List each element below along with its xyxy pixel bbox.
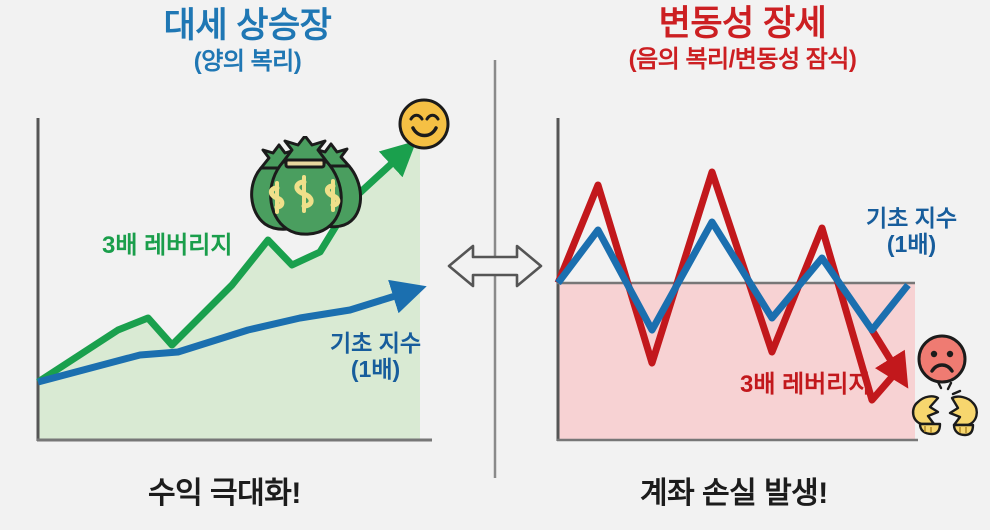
money-bags-icon: [243, 136, 365, 240]
right-base-index-label-line1: 기초 지수: [866, 205, 957, 231]
right-title-main: 변동성 장세: [495, 6, 990, 43]
left-title-main: 대세 상승장: [0, 8, 495, 45]
left-base-index-label-line2: (1배): [330, 356, 421, 382]
right-leveraged-label: 3배 레버리지: [740, 371, 870, 399]
left-title-sub: (양의 복리): [0, 49, 495, 74]
right-panel-title: 변동성 장세 (음의 복리/변동성 잠식): [495, 6, 990, 72]
left-panel-title: 대세 상승장 (양의 복리): [0, 8, 495, 74]
left-leveraged-label: 3배 레버리지: [102, 232, 232, 260]
right-caption: 계좌 손실 발생!: [640, 468, 828, 512]
left-panel: 대세 상승장 (양의 복리): [0, 0, 495, 530]
left-caption: 수익 극대화!: [148, 468, 301, 512]
right-panel: 변동성 장세 (음의 복리/변동성 잠식): [495, 0, 990, 530]
frowning-face-icon: [916, 333, 968, 385]
broken-coin-icon: [908, 382, 980, 440]
right-base-index-label-line2: (1배): [866, 231, 957, 257]
left-base-index-label-line1: 기초 지수: [330, 330, 421, 356]
right-title-sub: (음의 복리/변동성 잠식): [495, 47, 990, 72]
smiling-face-icon: [397, 97, 451, 151]
left-base-index-label: 기초 지수 (1배): [330, 330, 421, 383]
right-base-index-label: 기초 지수 (1배): [866, 205, 957, 258]
